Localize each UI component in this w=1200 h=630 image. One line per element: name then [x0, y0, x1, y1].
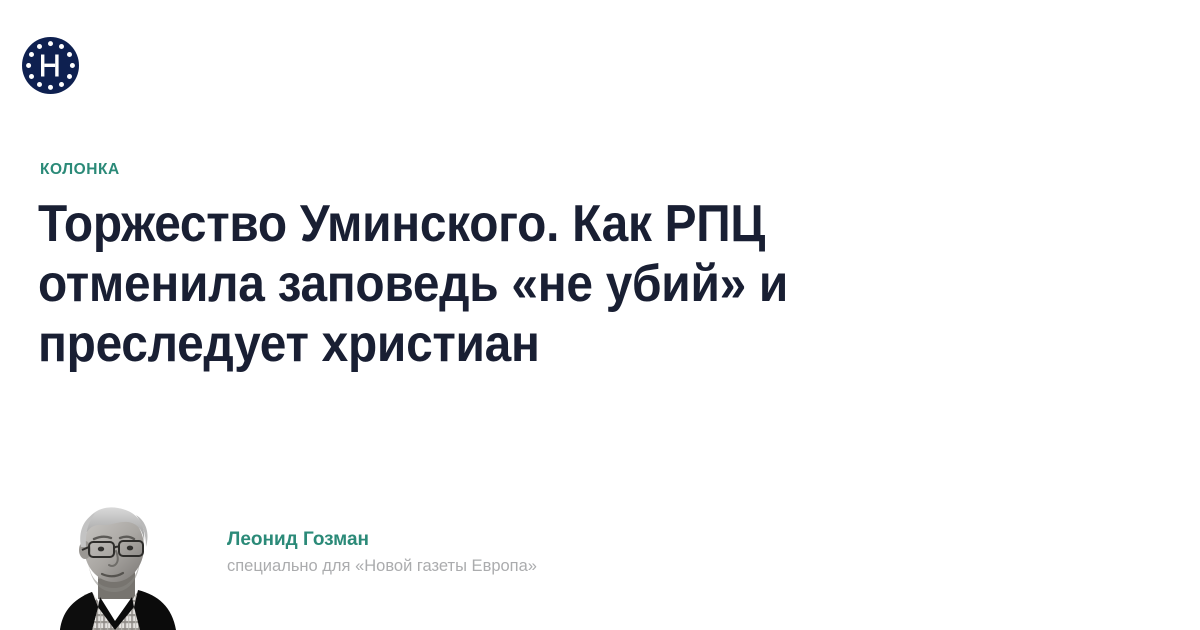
- author-affiliation: специально для «Новой газеты Европа»: [227, 556, 787, 577]
- article-rubric-label[interactable]: КОЛОНКА: [40, 161, 120, 179]
- headline-line-3: преследует христиан: [38, 314, 866, 374]
- article-share-card: КОЛОНКА Торжество Уминского. Как РПЦ отм…: [0, 0, 1200, 630]
- author-avatar: [40, 495, 190, 630]
- novaya-gazeta-europe-logo[interactable]: [22, 37, 79, 94]
- author-info: Леонид Гозман специально для «Новой газе…: [227, 528, 787, 577]
- article-headline: Торжество Уминского. Как РПЦ отменила за…: [38, 194, 866, 374]
- headline-line-1: Торжество Уминского. Как РПЦ: [38, 194, 866, 254]
- article-byline: Леонид Гозман специально для «Новой газе…: [40, 495, 800, 630]
- author-name[interactable]: Леонид Гозман: [227, 528, 787, 552]
- headline-line-2: отменила заповедь «не убий» и: [38, 254, 866, 314]
